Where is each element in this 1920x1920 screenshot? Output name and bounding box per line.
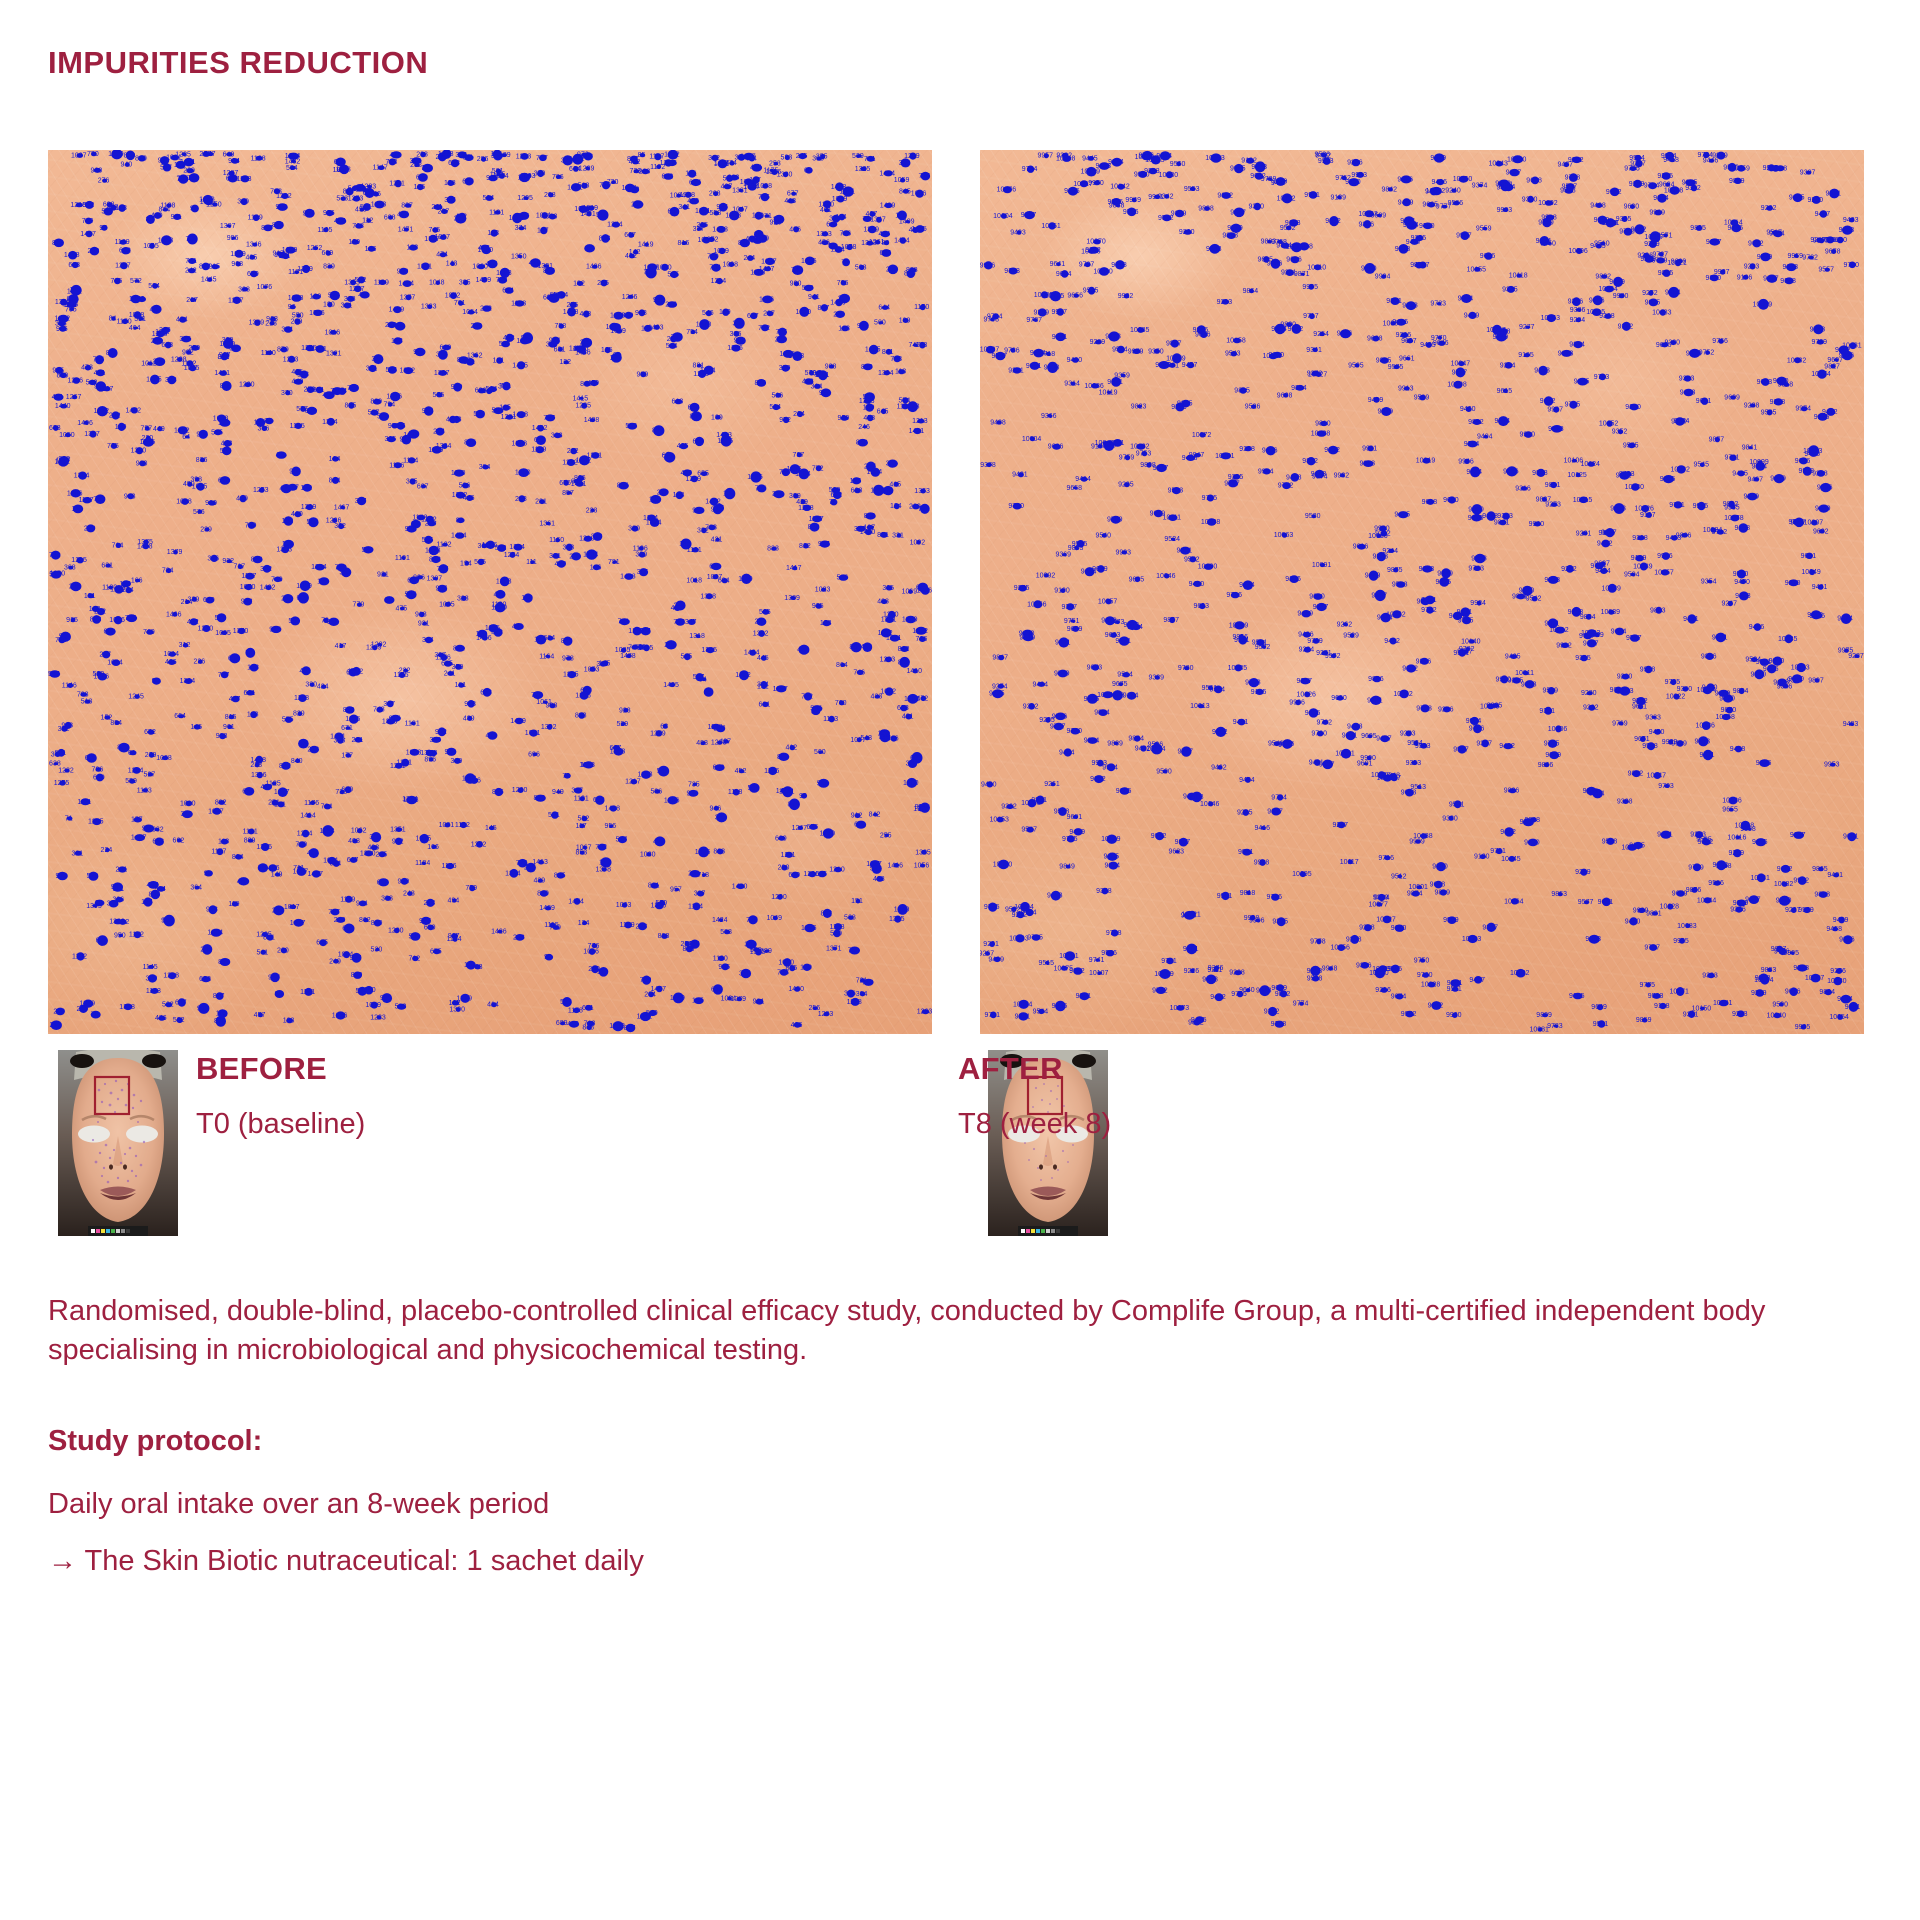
svg-text:1342: 1342 bbox=[637, 1014, 653, 1021]
svg-text:9525: 9525 bbox=[989, 691, 1005, 698]
svg-text:10067: 10067 bbox=[1805, 975, 1825, 982]
svg-text:737: 737 bbox=[218, 672, 230, 679]
svg-text:1317: 1317 bbox=[274, 789, 290, 796]
svg-text:503: 503 bbox=[855, 264, 867, 271]
svg-text:1137: 1137 bbox=[98, 386, 113, 393]
svg-text:1479: 1479 bbox=[830, 300, 846, 307]
svg-text:9554: 9554 bbox=[1112, 347, 1128, 354]
svg-text:9291: 9291 bbox=[1015, 1013, 1031, 1020]
svg-text:473: 473 bbox=[81, 365, 93, 372]
svg-text:986: 986 bbox=[819, 390, 831, 397]
svg-text:9247: 9247 bbox=[1722, 601, 1738, 608]
svg-text:525: 525 bbox=[680, 654, 692, 661]
svg-text:228: 228 bbox=[636, 923, 648, 930]
svg-text:1239: 1239 bbox=[230, 251, 246, 258]
svg-text:9184: 9184 bbox=[1123, 693, 1139, 700]
svg-text:1320: 1320 bbox=[818, 201, 834, 208]
svg-text:1285: 1285 bbox=[256, 932, 272, 939]
svg-text:9863: 9863 bbox=[1650, 607, 1666, 614]
svg-text:9710: 9710 bbox=[1419, 223, 1435, 230]
svg-text:9620: 9620 bbox=[1831, 237, 1847, 244]
svg-text:9412: 9412 bbox=[1384, 638, 1400, 645]
svg-text:10060: 10060 bbox=[1021, 800, 1041, 807]
svg-text:9189: 9189 bbox=[1331, 194, 1347, 201]
svg-text:9613: 9613 bbox=[1713, 862, 1729, 869]
svg-text:739: 739 bbox=[878, 734, 890, 741]
svg-text:251: 251 bbox=[268, 800, 280, 807]
svg-text:343: 343 bbox=[715, 814, 727, 821]
svg-text:899: 899 bbox=[370, 399, 382, 406]
svg-text:1072: 1072 bbox=[445, 293, 461, 300]
svg-text:9674: 9674 bbox=[1391, 994, 1407, 1001]
svg-text:781: 781 bbox=[608, 559, 620, 566]
svg-text:9813: 9813 bbox=[1521, 681, 1537, 688]
caption-title-after: AFTER bbox=[958, 1052, 1111, 1086]
svg-text:1101: 1101 bbox=[574, 796, 589, 803]
svg-text:9703: 9703 bbox=[1658, 783, 1674, 790]
svg-text:9730: 9730 bbox=[1178, 665, 1194, 672]
svg-text:1432: 1432 bbox=[609, 1023, 625, 1030]
svg-text:9279: 9279 bbox=[1437, 570, 1453, 577]
svg-text:151: 151 bbox=[851, 898, 863, 905]
svg-text:9862: 9862 bbox=[1698, 839, 1714, 846]
svg-text:625: 625 bbox=[441, 661, 453, 668]
svg-text:1076: 1076 bbox=[257, 284, 273, 291]
svg-text:1485: 1485 bbox=[747, 474, 763, 481]
svg-text:280: 280 bbox=[277, 948, 289, 955]
svg-text:9274: 9274 bbox=[992, 683, 1008, 690]
svg-text:9847: 9847 bbox=[992, 655, 1008, 662]
svg-text:425: 425 bbox=[677, 443, 689, 450]
svg-text:374: 374 bbox=[515, 225, 527, 232]
svg-text:9443: 9443 bbox=[1347, 724, 1363, 731]
svg-text:9481: 9481 bbox=[1812, 584, 1828, 591]
svg-text:9706: 9706 bbox=[1226, 592, 1242, 599]
svg-text:9497: 9497 bbox=[1376, 736, 1392, 743]
svg-text:10099: 10099 bbox=[1749, 459, 1769, 466]
svg-text:406: 406 bbox=[789, 226, 801, 233]
svg-text:827: 827 bbox=[343, 189, 355, 196]
svg-text:9365: 9365 bbox=[1616, 216, 1632, 223]
svg-text:9564: 9564 bbox=[1407, 740, 1423, 747]
svg-text:1063: 1063 bbox=[616, 902, 632, 909]
svg-text:9594: 9594 bbox=[1210, 686, 1226, 693]
svg-text:9377: 9377 bbox=[1476, 740, 1492, 747]
svg-text:9256: 9256 bbox=[1375, 987, 1391, 994]
svg-text:1466: 1466 bbox=[166, 611, 182, 618]
svg-text:1437: 1437 bbox=[80, 231, 96, 238]
svg-text:1427: 1427 bbox=[131, 835, 147, 842]
svg-text:366: 366 bbox=[637, 569, 649, 576]
svg-text:1248: 1248 bbox=[163, 973, 179, 980]
svg-text:9582: 9582 bbox=[1280, 225, 1296, 232]
svg-text:9887: 9887 bbox=[1175, 839, 1191, 846]
svg-text:515: 515 bbox=[474, 559, 486, 566]
svg-text:746: 746 bbox=[853, 669, 865, 676]
svg-text:1413: 1413 bbox=[532, 859, 548, 866]
svg-text:202: 202 bbox=[567, 448, 579, 455]
svg-text:9186: 9186 bbox=[1737, 274, 1753, 281]
svg-text:9735: 9735 bbox=[1665, 679, 1681, 686]
svg-text:304: 304 bbox=[856, 991, 868, 998]
svg-text:1238: 1238 bbox=[725, 213, 741, 220]
svg-text:9698: 9698 bbox=[1773, 680, 1789, 687]
svg-text:9934: 9934 bbox=[1661, 153, 1677, 160]
svg-text:890: 890 bbox=[343, 707, 355, 714]
svg-text:9519: 9519 bbox=[1378, 409, 1394, 416]
svg-text:944: 944 bbox=[356, 900, 368, 907]
svg-text:9716: 9716 bbox=[1378, 855, 1394, 862]
svg-text:9250: 9250 bbox=[1625, 404, 1641, 411]
svg-text:991: 991 bbox=[413, 349, 425, 356]
svg-text:9907: 9907 bbox=[1456, 233, 1472, 240]
svg-text:1406: 1406 bbox=[77, 420, 93, 427]
svg-text:1161: 1161 bbox=[243, 829, 258, 836]
svg-text:226: 226 bbox=[193, 659, 205, 666]
svg-text:9614: 9614 bbox=[1653, 195, 1669, 202]
svg-text:1337: 1337 bbox=[866, 861, 882, 868]
svg-text:800: 800 bbox=[371, 920, 383, 927]
svg-text:9740: 9740 bbox=[1067, 728, 1083, 735]
svg-text:520: 520 bbox=[830, 930, 842, 937]
svg-text:9562: 9562 bbox=[1212, 729, 1228, 736]
svg-text:1270: 1270 bbox=[198, 626, 214, 633]
svg-text:98: 98 bbox=[799, 793, 807, 800]
svg-text:10053: 10053 bbox=[1541, 315, 1561, 322]
svg-text:9688: 9688 bbox=[1526, 177, 1542, 184]
svg-text:9349: 9349 bbox=[1815, 506, 1831, 513]
svg-text:763: 763 bbox=[705, 524, 717, 531]
svg-text:9496: 9496 bbox=[1749, 624, 1765, 631]
svg-text:808: 808 bbox=[713, 849, 725, 856]
svg-text:9950: 9950 bbox=[1540, 240, 1556, 247]
svg-text:141: 141 bbox=[685, 171, 697, 178]
svg-text:1460: 1460 bbox=[515, 470, 531, 477]
svg-text:734: 734 bbox=[755, 485, 767, 492]
svg-text:1434: 1434 bbox=[744, 650, 760, 657]
svg-text:1383: 1383 bbox=[421, 304, 437, 311]
svg-text:10079: 10079 bbox=[1166, 355, 1186, 362]
svg-text:9449: 9449 bbox=[1365, 573, 1381, 580]
svg-text:9658: 9658 bbox=[1067, 485, 1083, 492]
svg-text:1308: 1308 bbox=[496, 578, 512, 585]
study-description: Randomised, double-blind, placebo-contro… bbox=[48, 1292, 1838, 1370]
svg-text:1012: 1012 bbox=[141, 361, 157, 368]
svg-text:9881: 9881 bbox=[1447, 980, 1463, 987]
svg-text:988: 988 bbox=[825, 364, 837, 371]
svg-text:10134: 10134 bbox=[1146, 746, 1166, 753]
svg-text:9222: 9222 bbox=[1618, 323, 1634, 330]
svg-text:846: 846 bbox=[738, 240, 750, 247]
svg-text:354: 354 bbox=[281, 327, 293, 334]
svg-text:323: 323 bbox=[457, 595, 469, 602]
svg-text:10051: 10051 bbox=[1041, 223, 1061, 230]
svg-text:1488: 1488 bbox=[137, 543, 153, 550]
svg-text:833: 833 bbox=[767, 546, 779, 553]
svg-text:9237: 9237 bbox=[1333, 822, 1349, 829]
svg-text:906: 906 bbox=[413, 574, 425, 581]
svg-text:870: 870 bbox=[534, 795, 546, 802]
svg-text:10133: 10133 bbox=[1652, 310, 1672, 317]
svg-text:319: 319 bbox=[436, 352, 448, 359]
svg-text:442: 442 bbox=[455, 214, 467, 221]
svg-text:803: 803 bbox=[117, 745, 129, 752]
svg-text:9920: 9920 bbox=[1496, 676, 1512, 683]
svg-text:1138: 1138 bbox=[829, 924, 844, 931]
svg-text:980: 980 bbox=[790, 281, 802, 288]
svg-text:1172: 1172 bbox=[129, 932, 144, 939]
svg-text:1309: 1309 bbox=[382, 719, 398, 726]
svg-text:9804: 9804 bbox=[1733, 688, 1749, 695]
svg-text:9655: 9655 bbox=[1722, 807, 1738, 814]
svg-text:1111: 1111 bbox=[77, 799, 91, 806]
svg-text:9721: 9721 bbox=[1115, 638, 1131, 645]
svg-text:192: 192 bbox=[573, 281, 585, 288]
svg-text:9524: 9524 bbox=[1164, 536, 1180, 543]
svg-text:9948: 9948 bbox=[1322, 966, 1338, 973]
svg-text:10070: 10070 bbox=[1086, 239, 1106, 246]
svg-text:350: 350 bbox=[779, 365, 791, 372]
svg-text:1061: 1061 bbox=[536, 699, 552, 706]
svg-text:9798: 9798 bbox=[1106, 930, 1122, 937]
svg-text:9867: 9867 bbox=[1166, 341, 1182, 348]
svg-text:9675: 9675 bbox=[1112, 681, 1128, 688]
svg-text:1401: 1401 bbox=[180, 159, 196, 166]
svg-text:9876: 9876 bbox=[1686, 887, 1702, 894]
svg-text:9649: 9649 bbox=[1591, 1004, 1607, 1011]
svg-text:752: 752 bbox=[421, 165, 433, 172]
svg-text:138: 138 bbox=[247, 665, 259, 672]
svg-text:953: 953 bbox=[206, 907, 218, 914]
svg-text:483: 483 bbox=[877, 599, 889, 606]
svg-text:901: 901 bbox=[753, 999, 765, 1006]
svg-text:9802: 9802 bbox=[1595, 274, 1611, 281]
svg-text:9601: 9601 bbox=[1067, 814, 1083, 821]
svg-text:9890: 9890 bbox=[1345, 179, 1361, 186]
svg-text:9794: 9794 bbox=[1271, 794, 1287, 801]
svg-text:471: 471 bbox=[486, 733, 498, 740]
svg-text:10120: 10120 bbox=[1507, 156, 1527, 163]
svg-text:928: 928 bbox=[464, 701, 476, 708]
svg-text:9367: 9367 bbox=[1021, 212, 1037, 219]
svg-text:9672: 9672 bbox=[1540, 398, 1556, 405]
svg-text:127: 127 bbox=[610, 355, 622, 362]
svg-text:10011: 10011 bbox=[1515, 670, 1534, 677]
svg-text:9637: 9637 bbox=[1267, 809, 1283, 816]
svg-text:1252: 1252 bbox=[735, 672, 751, 679]
svg-text:963: 963 bbox=[422, 408, 434, 415]
svg-text:1431: 1431 bbox=[580, 211, 596, 218]
svg-text:9296: 9296 bbox=[1637, 253, 1653, 260]
svg-text:139: 139 bbox=[711, 414, 723, 421]
svg-text:628: 628 bbox=[161, 342, 173, 349]
svg-text:212: 212 bbox=[94, 609, 106, 616]
svg-text:9771: 9771 bbox=[1712, 634, 1728, 641]
svg-text:1144: 1144 bbox=[403, 457, 418, 464]
svg-text:653: 653 bbox=[593, 797, 605, 804]
svg-text:918: 918 bbox=[415, 612, 427, 619]
svg-text:481: 481 bbox=[902, 714, 914, 721]
svg-text:9196: 9196 bbox=[1064, 188, 1080, 195]
svg-text:9957: 9957 bbox=[1038, 153, 1054, 160]
svg-text:1151: 1151 bbox=[814, 372, 829, 379]
svg-text:9908: 9908 bbox=[1772, 165, 1788, 172]
svg-text:9573: 9573 bbox=[1124, 622, 1140, 629]
svg-text:368: 368 bbox=[64, 565, 76, 572]
svg-text:1344: 1344 bbox=[700, 367, 716, 374]
svg-text:10082: 10082 bbox=[1774, 881, 1794, 888]
svg-text:1263: 1263 bbox=[917, 1009, 932, 1016]
svg-text:9974: 9974 bbox=[1795, 406, 1811, 413]
svg-text:1213: 1213 bbox=[912, 418, 928, 425]
svg-text:10041: 10041 bbox=[1335, 751, 1355, 758]
svg-text:454: 454 bbox=[750, 165, 762, 172]
svg-text:1054: 1054 bbox=[462, 309, 478, 316]
svg-text:103: 103 bbox=[406, 245, 418, 252]
svg-text:9882: 9882 bbox=[1468, 419, 1484, 426]
svg-text:416: 416 bbox=[494, 591, 506, 598]
svg-text:177: 177 bbox=[341, 752, 353, 759]
svg-text:1064: 1064 bbox=[867, 469, 883, 476]
svg-text:9484: 9484 bbox=[1239, 777, 1255, 784]
svg-text:10149: 10149 bbox=[1229, 622, 1249, 629]
svg-text:9357: 9357 bbox=[1520, 819, 1536, 826]
svg-text:817: 817 bbox=[627, 156, 639, 163]
svg-text:300: 300 bbox=[146, 975, 158, 982]
svg-text:67: 67 bbox=[384, 597, 392, 604]
svg-text:9510: 9510 bbox=[1594, 241, 1610, 248]
svg-text:9565: 9565 bbox=[1761, 409, 1777, 416]
svg-text:1197: 1197 bbox=[773, 686, 788, 693]
svg-text:1115: 1115 bbox=[544, 922, 559, 929]
svg-text:629: 629 bbox=[709, 563, 721, 570]
svg-text:164: 164 bbox=[329, 456, 341, 463]
svg-text:108: 108 bbox=[391, 338, 403, 345]
svg-text:994: 994 bbox=[196, 431, 208, 438]
svg-text:10156: 10156 bbox=[1027, 601, 1047, 608]
svg-text:990: 990 bbox=[205, 500, 217, 507]
svg-text:971: 971 bbox=[760, 213, 772, 220]
svg-text:1173: 1173 bbox=[146, 988, 161, 995]
svg-text:9263: 9263 bbox=[1839, 227, 1855, 234]
svg-text:1302: 1302 bbox=[753, 631, 769, 638]
svg-text:1052: 1052 bbox=[912, 628, 928, 635]
svg-text:61: 61 bbox=[128, 750, 136, 757]
svg-text:830: 830 bbox=[861, 364, 873, 371]
svg-text:1100: 1100 bbox=[754, 236, 769, 243]
svg-text:10118: 10118 bbox=[1509, 273, 1528, 280]
svg-text:10018: 10018 bbox=[1735, 823, 1755, 830]
svg-text:1179: 1179 bbox=[340, 896, 355, 903]
svg-text:9422: 9422 bbox=[1499, 743, 1515, 750]
svg-text:147: 147 bbox=[599, 859, 611, 866]
svg-text:1217: 1217 bbox=[625, 779, 641, 786]
svg-text:537: 537 bbox=[499, 341, 511, 348]
svg-text:764: 764 bbox=[321, 804, 333, 811]
svg-text:996: 996 bbox=[227, 235, 239, 242]
svg-text:1230: 1230 bbox=[239, 382, 255, 389]
svg-text:9503: 9503 bbox=[1168, 488, 1184, 495]
svg-text:9600: 9600 bbox=[1443, 497, 1459, 504]
svg-text:9547: 9547 bbox=[1021, 827, 1037, 834]
svg-text:992: 992 bbox=[182, 349, 194, 356]
svg-text:787: 787 bbox=[793, 452, 805, 459]
svg-text:758: 758 bbox=[554, 323, 566, 330]
svg-text:9341: 9341 bbox=[1306, 347, 1322, 354]
svg-text:9463: 9463 bbox=[1449, 613, 1465, 620]
svg-text:1260: 1260 bbox=[820, 830, 836, 837]
svg-text:9834: 9834 bbox=[1084, 738, 1100, 745]
svg-text:1269: 1269 bbox=[686, 476, 702, 483]
svg-text:1407: 1407 bbox=[759, 266, 775, 273]
svg-text:736: 736 bbox=[758, 194, 770, 201]
svg-text:9456: 9456 bbox=[1337, 331, 1353, 338]
svg-text:9604: 9604 bbox=[1056, 271, 1072, 278]
svg-text:935: 935 bbox=[812, 603, 824, 610]
svg-text:9277: 9277 bbox=[1519, 324, 1535, 331]
svg-text:9880: 9880 bbox=[1432, 864, 1448, 871]
svg-text:1314: 1314 bbox=[505, 870, 521, 877]
svg-text:1121: 1121 bbox=[687, 547, 702, 554]
svg-text:10020: 10020 bbox=[1093, 268, 1113, 275]
svg-text:9607: 9607 bbox=[1506, 170, 1522, 177]
svg-text:10040: 10040 bbox=[1767, 1013, 1787, 1020]
svg-text:1215: 1215 bbox=[71, 557, 87, 564]
svg-text:1486: 1486 bbox=[264, 865, 280, 872]
svg-text:146: 146 bbox=[190, 724, 202, 731]
svg-text:440: 440 bbox=[292, 379, 304, 386]
svg-text:9729: 9729 bbox=[1812, 339, 1828, 346]
svg-text:558: 558 bbox=[709, 210, 721, 217]
svg-text:9935: 9935 bbox=[1724, 504, 1740, 511]
svg-text:9480: 9480 bbox=[1625, 918, 1641, 925]
svg-text:9581: 9581 bbox=[1252, 639, 1268, 646]
svg-text:728: 728 bbox=[746, 917, 758, 924]
svg-text:9978: 9978 bbox=[1544, 577, 1560, 584]
svg-text:254: 254 bbox=[631, 202, 643, 209]
svg-text:9352: 9352 bbox=[1612, 429, 1628, 436]
svg-text:9886: 9886 bbox=[1504, 788, 1520, 795]
svg-text:10089: 10089 bbox=[1633, 564, 1653, 571]
svg-text:1384: 1384 bbox=[420, 750, 436, 757]
svg-text:10085: 10085 bbox=[1228, 665, 1248, 672]
svg-text:1102: 1102 bbox=[72, 953, 87, 960]
svg-text:268: 268 bbox=[709, 191, 721, 198]
svg-text:1257: 1257 bbox=[115, 263, 131, 270]
svg-text:855: 855 bbox=[617, 483, 629, 490]
svg-text:9238: 9238 bbox=[1744, 403, 1760, 410]
svg-text:755: 755 bbox=[125, 615, 137, 622]
svg-text:149: 149 bbox=[271, 872, 283, 879]
svg-text:9817: 9817 bbox=[1319, 761, 1335, 768]
svg-text:10127: 10127 bbox=[1376, 916, 1396, 923]
svg-text:9283: 9283 bbox=[1105, 334, 1121, 341]
svg-text:243: 243 bbox=[403, 891, 415, 898]
svg-text:854: 854 bbox=[110, 720, 122, 727]
svg-text:10158: 10158 bbox=[1226, 338, 1246, 345]
svg-text:9544: 9544 bbox=[1033, 1008, 1049, 1015]
svg-text:9414: 9414 bbox=[1075, 476, 1091, 483]
svg-text:9324: 9324 bbox=[1837, 616, 1853, 623]
svg-text:9249: 9249 bbox=[1629, 181, 1645, 188]
svg-text:9220: 9220 bbox=[1524, 839, 1540, 846]
svg-text:9206: 9206 bbox=[1438, 706, 1454, 713]
svg-text:93: 93 bbox=[204, 870, 212, 877]
svg-text:1447: 1447 bbox=[743, 181, 759, 188]
svg-text:9895: 9895 bbox=[1234, 388, 1250, 395]
svg-text:10072: 10072 bbox=[1192, 432, 1212, 439]
svg-text:9894: 9894 bbox=[1819, 989, 1835, 996]
